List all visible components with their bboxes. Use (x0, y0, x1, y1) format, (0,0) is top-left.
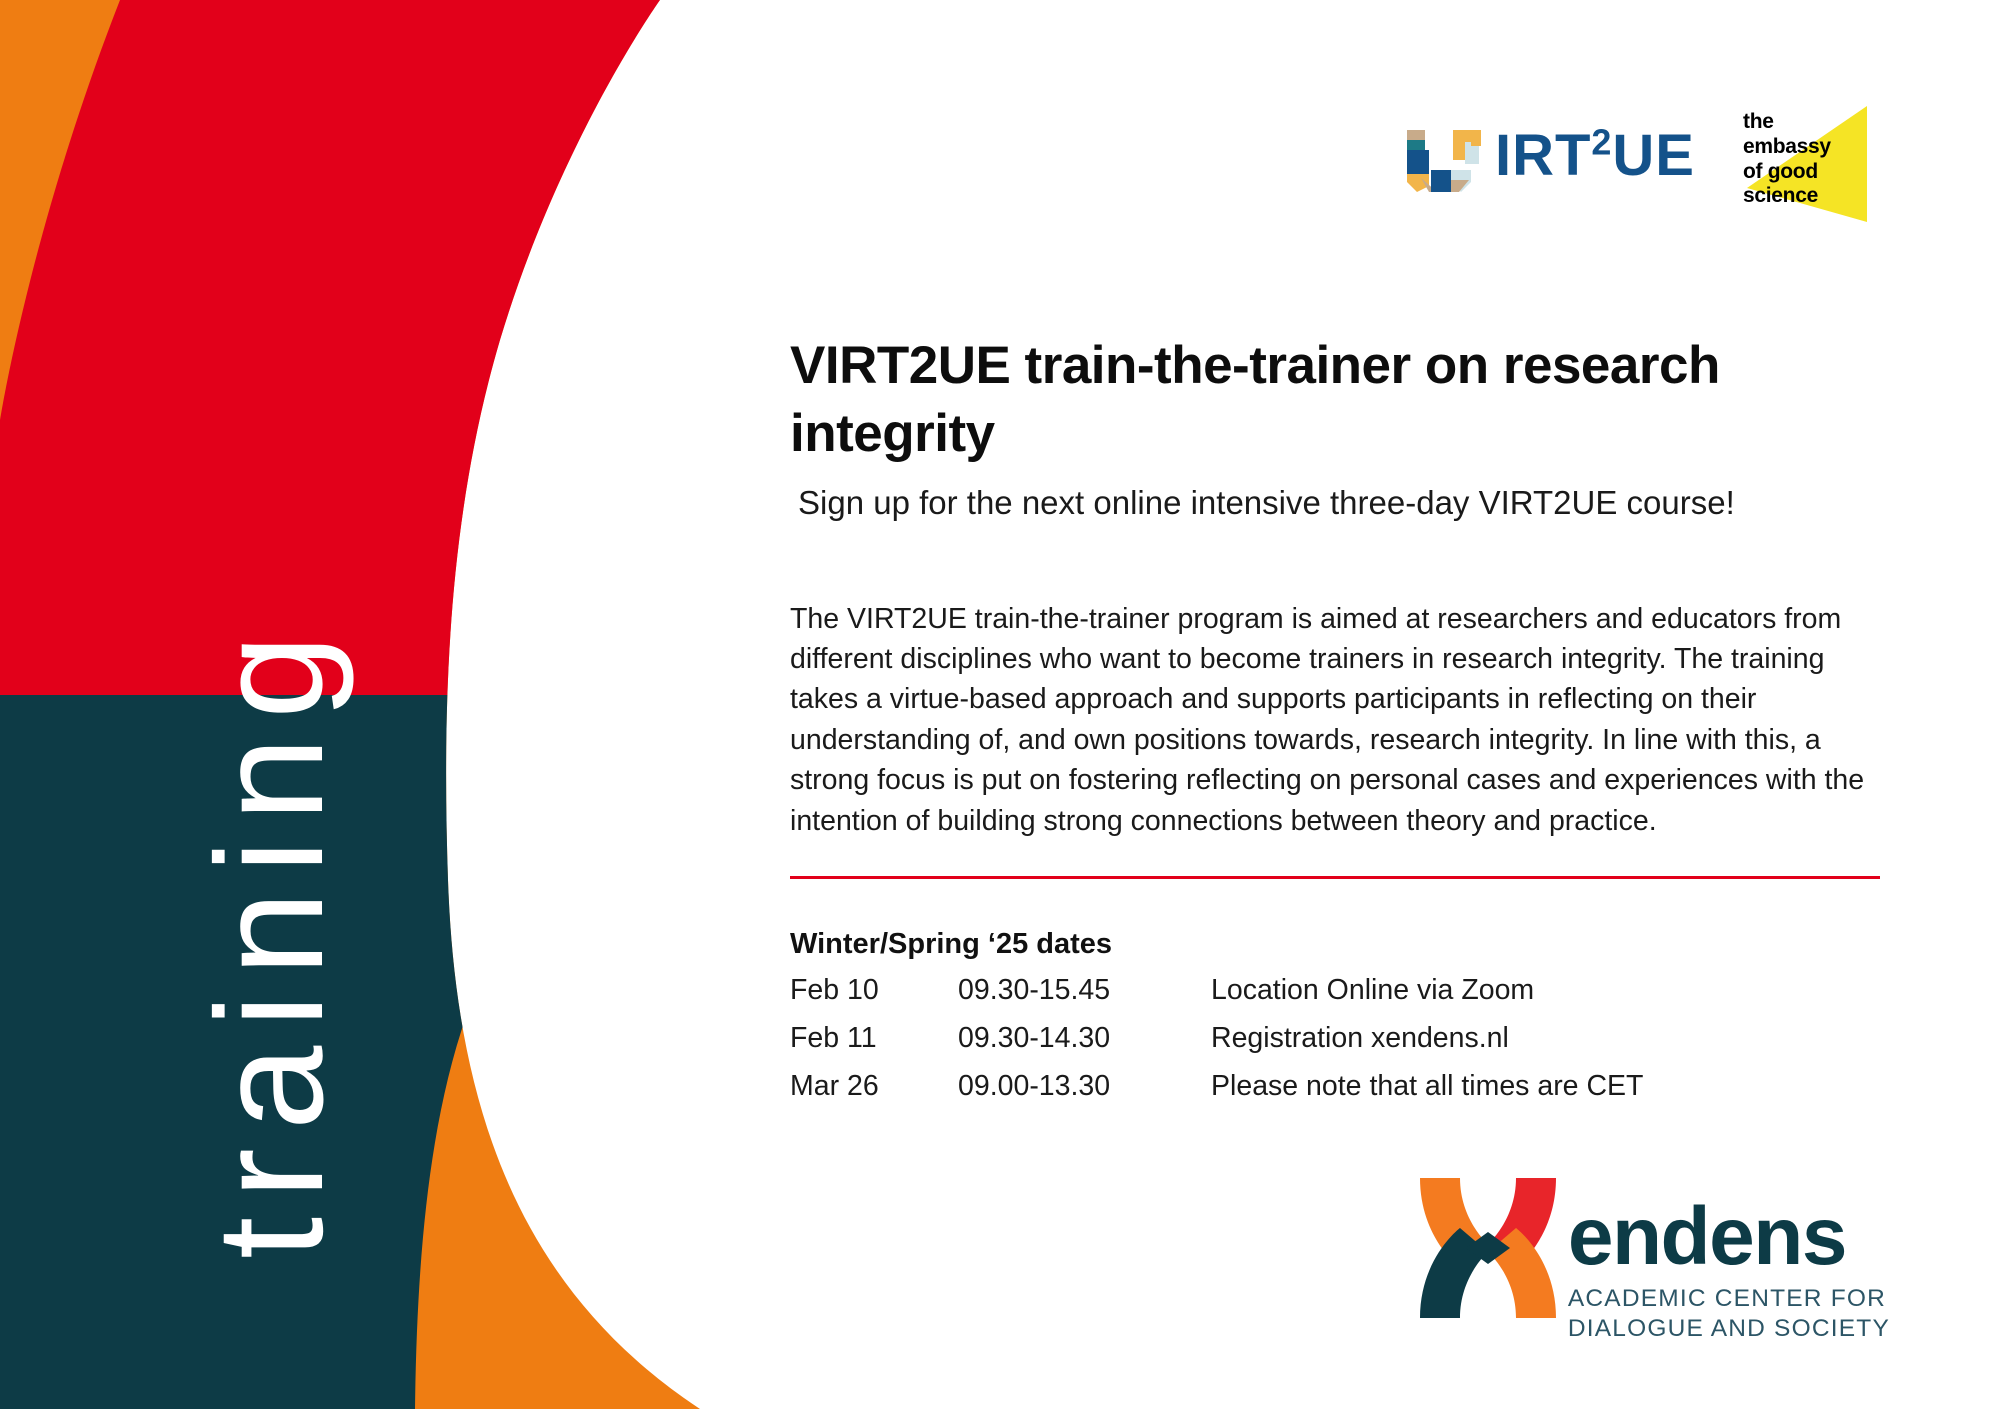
virt2ue-wordmark-sup: 2 (1591, 122, 1612, 163)
xendens-tagline: ACADEMIC CENTER FOR DIALOGUE AND SOCIETY (1568, 1284, 1890, 1344)
virt2ue-wordmark-post: UE (1612, 123, 1695, 188)
content-column: IRT2UE the embassy of good science VIRT2… (790, 0, 1940, 1409)
date-day: Feb 10 (790, 973, 958, 1021)
xendens-x-mark-icon (1414, 1172, 1562, 1324)
date-day: Feb 11 (790, 1021, 958, 1069)
table-row: Mar 26 09.00-13.30 Please note that all … (790, 1069, 1880, 1117)
virt2ue-wordmark-pre: IRT (1495, 123, 1591, 188)
xendens-text-block: endens ACADEMIC CENTER FOR DIALOGUE AND … (1568, 1198, 1890, 1344)
embassy-line-1: the (1743, 110, 1831, 135)
virt2ue-v-mark-icon (1403, 120, 1489, 192)
page-subtitle: Sign up for the next online intensive th… (798, 482, 1918, 525)
xendens-tagline-line-1: ACADEMIC CENTER FOR (1568, 1284, 1890, 1314)
embassy-logo: the embassy of good science (1735, 100, 1885, 228)
date-info: Location Online via Zoom (1211, 973, 1880, 1021)
page-title: VIRT2UE train-the-trainer on research in… (790, 332, 1800, 470)
date-day: Mar 26 (790, 1069, 958, 1117)
xendens-logo: endens ACADEMIC CENTER FOR DIALOGUE AND … (1414, 1172, 1890, 1344)
table-row: Feb 11 09.30-14.30 Registration xendens.… (790, 1021, 1880, 1069)
section-divider (790, 876, 1880, 879)
virt2ue-wordmark: IRT2UE (1495, 127, 1695, 185)
date-time: 09.00-13.30 (958, 1069, 1211, 1117)
virt2ue-logo: IRT2UE (1403, 120, 1695, 192)
xendens-wordmark: endens (1568, 1198, 1890, 1276)
dates-table-body: Feb 10 09.30-15.45 Location Online via Z… (790, 973, 1880, 1116)
date-info: Registration xendens.nl (1211, 1021, 1880, 1069)
body-paragraph: The VIRT2UE train-the-trainer program is… (790, 599, 1875, 842)
embassy-line-4: science (1743, 184, 1831, 209)
date-time: 09.30-14.30 (958, 1021, 1211, 1069)
xendens-tagline-line-2: DIALOGUE AND SOCIETY (1568, 1314, 1890, 1344)
date-info: Please note that all times are CET (1211, 1069, 1880, 1117)
graphic-red-shape (0, 0, 920, 695)
embassy-wordmark: the embassy of good science (1743, 110, 1831, 209)
embassy-line-2: embassy (1743, 135, 1831, 160)
dates-heading: Winter/Spring ‘25 dates (790, 928, 1112, 961)
embassy-line-3: of good (1743, 160, 1831, 185)
header-logo-row: IRT2UE the embassy of good science (1403, 100, 1885, 228)
dates-table: Feb 10 09.30-15.45 Location Online via Z… (790, 973, 1880, 1116)
poster-root: training (0, 0, 2000, 1409)
date-time: 09.30-15.45 (958, 973, 1211, 1021)
table-row: Feb 10 09.30-15.45 Location Online via Z… (790, 973, 1880, 1021)
decorative-graphic: training (0, 0, 920, 1409)
